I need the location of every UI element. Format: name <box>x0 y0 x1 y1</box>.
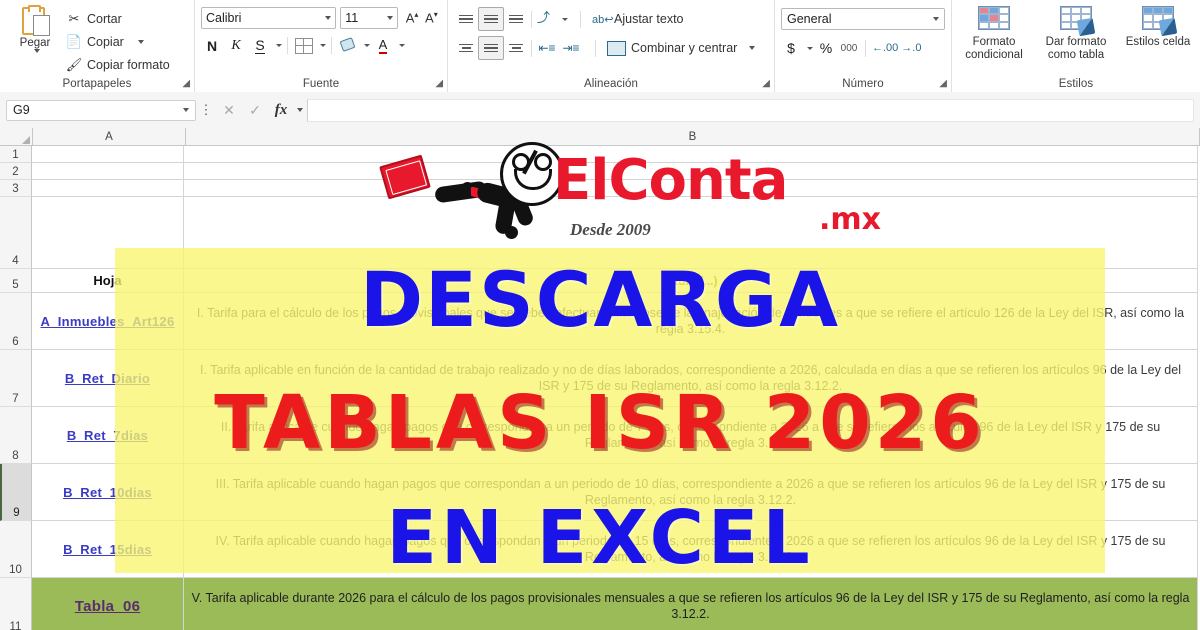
conditional-format-icon <box>978 6 1010 34</box>
group-label-font: Fuente <box>195 78 447 90</box>
underline-button[interactable]: S <box>249 35 271 56</box>
align-middle-button[interactable] <box>478 7 504 31</box>
clipboard-dialog-launcher-icon[interactable]: ◢ <box>182 78 190 89</box>
increase-indent-button[interactable]: ⇥≡ <box>559 37 583 59</box>
chevron-down-icon[interactable] <box>297 108 303 112</box>
row-header[interactable]: 2 <box>0 163 32 180</box>
row-header[interactable]: 4 <box>0 197 32 269</box>
orientation-icon: ⤴ <box>537 10 557 28</box>
cell-b2[interactable] <box>184 163 1198 180</box>
cell-styles-button[interactable]: Estilos celda <box>1122 6 1194 62</box>
font-size-value: 11 <box>345 11 358 25</box>
chevron-down-icon[interactable] <box>325 16 331 20</box>
cell-a10[interactable]: B_Ret_15dias <box>32 521 184 578</box>
cell-a8[interactable]: B_Ret_7dias <box>32 407 184 464</box>
comma-style-button[interactable]: 000 <box>839 38 859 58</box>
format-as-table-label: Dar formato como tabla <box>1040 36 1112 62</box>
copy-button[interactable]: 📄 Copiar <box>64 31 170 53</box>
borders-icon <box>295 38 313 54</box>
font-dialog-launcher-icon[interactable]: ◢ <box>435 78 443 89</box>
cell-a2[interactable] <box>32 163 184 180</box>
cell-a5[interactable]: Hoja <box>32 269 184 293</box>
align-top-button[interactable] <box>454 8 478 30</box>
chevron-down-icon[interactable] <box>183 108 189 112</box>
column-header-b[interactable]: B <box>186 128 1200 145</box>
cell-b10[interactable]: IV. Tarifa aplicable cuando hagan pagos … <box>184 521 1198 578</box>
sheet-link-tabla-06[interactable]: Tabla_06 <box>75 598 141 615</box>
currency-button[interactable]: $ <box>781 38 801 58</box>
font-size-select[interactable]: 11 <box>340 7 398 29</box>
chevron-down-icon[interactable] <box>276 44 282 47</box>
increase-font-size-button[interactable]: A▴ <box>402 10 421 25</box>
row-header-selected[interactable]: 9 <box>0 464 32 521</box>
row-header[interactable]: 6 <box>0 293 32 350</box>
sheet-link-b-ret-15dias[interactable]: B_Ret_15dias <box>63 542 152 557</box>
cut-label: Cortar <box>87 12 122 26</box>
name-box[interactable]: G9 <box>6 100 196 121</box>
row-description: I. Tarifa aplicable en función de la can… <box>190 362 1191 394</box>
wrap-text-icon: ab↩ <box>592 13 610 26</box>
table-row: 1 <box>0 146 1200 163</box>
row-description: V. Tarifa aplicable durante 2026 para el… <box>190 590 1191 622</box>
divider <box>865 40 866 57</box>
cell-b9[interactable]: III. Tarifa aplicable cuando hagan pagos… <box>184 464 1198 521</box>
row-description: II. Tarifa aplicable cuando hagan pagos … <box>190 419 1191 451</box>
wrap-text-label: Ajustar texto <box>614 12 683 26</box>
wrap-text-button[interactable]: ab↩ Ajustar texto <box>592 12 683 26</box>
borders-button[interactable] <box>293 35 315 56</box>
decrease-decimal-button[interactable]: ←.00 <box>872 38 898 58</box>
accept-entry-button[interactable]: ✓ <box>242 102 268 119</box>
divider <box>331 37 332 54</box>
ribbon-group-alignment: ⤴ ab↩ Ajustar texto ⇤≡ ⇥≡ Combinar y <box>447 0 774 92</box>
table-row: 4 <box>0 197 1200 269</box>
row-header[interactable]: 10 <box>0 521 32 578</box>
table-row: 11 Tabla_06 V. Tarifa aplicable durante … <box>0 578 1200 630</box>
cell-a6[interactable]: A_Inmuebles_Art126 <box>32 293 184 350</box>
decrease-indent-icon: ⇤≡ <box>538 41 555 55</box>
chevron-down-icon[interactable] <box>364 44 370 47</box>
cell-styles-icon <box>1142 6 1174 34</box>
font-name-value: Calibri <box>206 11 241 25</box>
grid-rows: 1 2 3 4 5 Hoja Título (...) <box>0 146 1200 630</box>
more-options-icon[interactable]: ⋮ <box>196 102 216 118</box>
spreadsheet-grid: A B 1 2 3 4 5 Hoja <box>0 128 1200 630</box>
column-header-a[interactable]: A <box>33 128 186 145</box>
divider <box>531 11 532 28</box>
chevron-down-icon[interactable] <box>34 49 40 53</box>
chevron-down-icon[interactable] <box>749 46 755 50</box>
scissors-icon: ✂ <box>64 11 84 27</box>
chevron-down-icon[interactable] <box>933 17 939 21</box>
format-painter-label: Copiar formato <box>87 58 170 72</box>
group-label-alignment: Alineación <box>448 78 774 90</box>
cell-b5[interactable]: Título (...) <box>184 269 1198 293</box>
merge-center-button[interactable]: Combinar y centrar <box>607 41 755 56</box>
chevron-down-icon[interactable] <box>387 16 393 20</box>
format-painter-button[interactable]: 🖌 Copiar formato <box>64 54 170 76</box>
cell-b3[interactable] <box>184 180 1198 197</box>
orientation-button[interactable]: ⤴ <box>535 8 559 30</box>
table-row: 10 B_Ret_15dias IV. Tarifa aplicable cua… <box>0 521 1200 578</box>
cell-a3[interactable] <box>32 180 184 197</box>
column-b-title: Título (...) <box>664 274 718 288</box>
cell-a7[interactable]: B_Ret_Diario <box>32 350 184 407</box>
merge-center-label: Combinar y centrar <box>631 41 737 55</box>
chevron-down-icon[interactable] <box>807 47 813 50</box>
group-label-number: Número <box>775 78 951 90</box>
paste-button[interactable]: Pegar <box>6 6 64 53</box>
table-row: 8 B_Ret_7dias II. Tarifa aplicable cuand… <box>0 407 1200 464</box>
merge-cells-icon <box>607 41 626 56</box>
row-description: III. Tarifa aplicable cuando hagan pagos… <box>190 476 1191 508</box>
chevron-down-icon[interactable] <box>562 18 568 21</box>
sheet-link-b-ret-7dias[interactable]: B_Ret_7dias <box>67 428 148 443</box>
number-format-value: General <box>787 12 831 26</box>
table-row: 9 B_Ret_10dias III. Tarifa aplicable cua… <box>0 464 1200 521</box>
ribbon-group-styles: Formato condicional Dar formato como tab… <box>951 0 1200 92</box>
divider <box>580 11 581 28</box>
cell-styles-label: Estilos celda <box>1126 36 1191 49</box>
font-color-button[interactable]: A <box>372 35 394 56</box>
select-all-button[interactable] <box>0 128 33 145</box>
row-header[interactable]: 1 <box>0 146 32 163</box>
cell-b8[interactable]: II. Tarifa aplicable cuando hagan pagos … <box>184 407 1198 464</box>
conditional-format-label: Formato condicional <box>958 36 1030 62</box>
formula-input[interactable] <box>307 99 1194 122</box>
cell-a9[interactable]: B_Ret_10dias <box>32 464 184 521</box>
fill-color-button[interactable] <box>337 35 359 56</box>
chevron-down-icon[interactable] <box>138 40 144 44</box>
cancel-entry-button[interactable]: ✕ <box>216 102 242 119</box>
group-label-clipboard: Portapapeles <box>0 78 194 90</box>
ribbon: Pegar ✂ Cortar 📄 Copiar 🖌 Copiar formato <box>0 0 1200 93</box>
table-row: 3 <box>0 180 1200 197</box>
italic-button[interactable]: K <box>225 35 247 56</box>
group-label-styles: Estilos <box>952 78 1200 90</box>
table-row: 7 B_Ret_Diario I. Tarifa aplicable en fu… <box>0 350 1200 407</box>
row-header[interactable]: 3 <box>0 180 32 197</box>
conditional-formatting-button[interactable]: Formato condicional <box>958 6 1030 62</box>
number-format-select[interactable]: General <box>781 8 945 30</box>
cut-button[interactable]: ✂ Cortar <box>64 8 170 30</box>
row-header[interactable]: 8 <box>0 407 32 464</box>
sheet-link-a-inmuebles-art126[interactable]: A_Inmuebles_Art126 <box>40 314 174 329</box>
divider <box>531 40 532 57</box>
sheet-link-b-ret-10dias[interactable]: B_Ret_10dias <box>63 485 152 500</box>
format-as-table-icon <box>1060 6 1092 34</box>
increase-decimal-button[interactable]: →.0 <box>901 38 921 58</box>
number-dialog-launcher-icon[interactable]: ◢ <box>939 78 947 89</box>
name-box-value: G9 <box>13 103 30 117</box>
cell-b1[interactable] <box>184 146 1198 163</box>
copy-icon: 📄 <box>64 34 84 50</box>
ribbon-group-number: General $ % 000 ←.00 →.0 Número ◢ <box>774 0 951 92</box>
divider <box>287 37 288 54</box>
shrink-font-label: A <box>425 11 434 26</box>
increase-indent-icon: ⇥≡ <box>562 41 579 55</box>
format-as-table-button[interactable]: Dar formato como tabla <box>1040 6 1112 62</box>
decrease-indent-button[interactable]: ⇤≡ <box>535 37 559 59</box>
fill-color-icon <box>340 38 356 53</box>
decrease-font-size-button[interactable]: A▾ <box>422 10 441 25</box>
cell-b11[interactable]: V. Tarifa aplicable durante 2026 para el… <box>184 578 1198 630</box>
chevron-down-icon[interactable] <box>399 44 405 47</box>
row-header[interactable]: 7 <box>0 350 32 407</box>
ribbon-group-clipboard: Pegar ✂ Cortar 📄 Copiar 🖌 Copiar formato <box>0 0 194 92</box>
paste-label: Pegar <box>20 37 51 49</box>
chevron-down-icon[interactable] <box>320 44 326 47</box>
cell-b7[interactable]: I. Tarifa aplicable en función de la can… <box>184 350 1198 407</box>
row-header[interactable]: 11 <box>0 578 32 630</box>
cell-b4[interactable] <box>184 197 1198 269</box>
ribbon-group-font: Calibri 11 A▴ A▾ N K S <box>194 0 447 92</box>
table-row: 2 <box>0 163 1200 180</box>
cell-b6[interactable]: I. Tarifa para el cálculo de los pagos p… <box>184 293 1198 350</box>
bold-button[interactable]: N <box>201 35 223 56</box>
insert-function-button[interactable]: fx <box>268 102 294 119</box>
sheet-link-b-ret-diario[interactable]: B_Ret_Diario <box>65 371 150 386</box>
copy-label: Copiar <box>87 35 124 49</box>
column-a-title: Hoja <box>93 273 121 288</box>
format-painter-icon: 🖌 <box>64 57 84 73</box>
row-description: IV. Tarifa aplicable cuando hagan pagos … <box>190 533 1191 565</box>
font-color-icon: A <box>379 37 388 54</box>
divider <box>595 40 596 57</box>
row-description: I. Tarifa para el cálculo de los pagos p… <box>190 305 1191 337</box>
formula-bar: G9 ⋮ ✕ ✓ fx <box>0 92 1200 128</box>
table-row: 6 A_Inmuebles_Art126 I. Tarifa para el c… <box>0 293 1200 350</box>
align-center-button[interactable] <box>478 36 504 60</box>
table-row: 5 Hoja Título (...) <box>0 269 1200 293</box>
align-right-button[interactable] <box>504 37 528 59</box>
row-header[interactable]: 5 <box>0 269 32 293</box>
percent-button[interactable]: % <box>816 38 836 58</box>
cell-a1[interactable] <box>32 146 184 163</box>
cell-a4[interactable] <box>32 197 184 269</box>
column-headers: A B <box>0 128 1200 146</box>
cell-a11[interactable]: Tabla_06 <box>32 578 184 630</box>
font-name-select[interactable]: Calibri <box>201 7 336 29</box>
align-bottom-button[interactable] <box>504 8 528 30</box>
alignment-dialog-launcher-icon[interactable]: ◢ <box>762 78 770 89</box>
align-left-button[interactable] <box>454 37 478 59</box>
paste-icon <box>20 6 50 36</box>
